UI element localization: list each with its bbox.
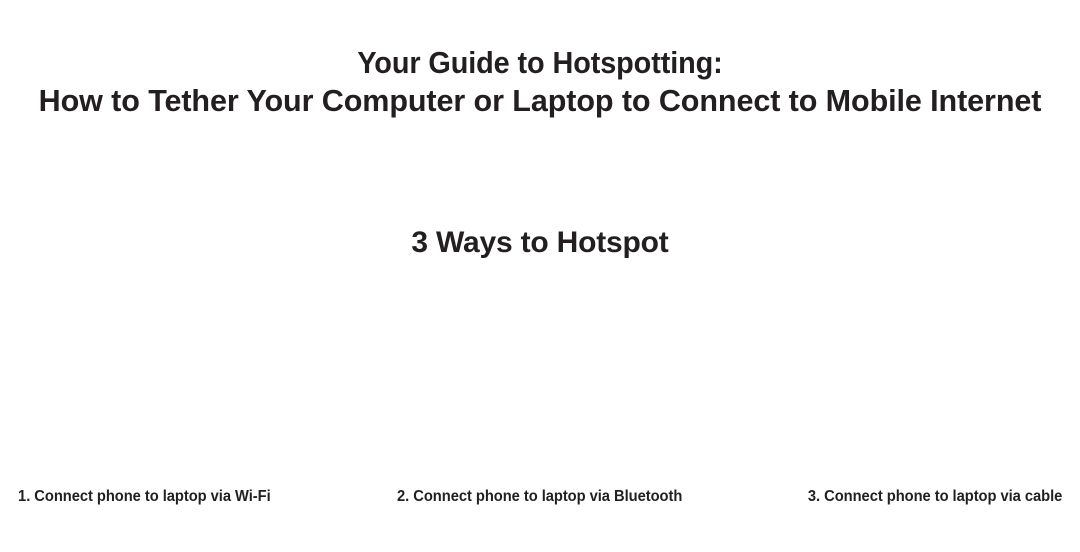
section-heading-label: 3 Ways to Hotspot [411,226,668,259]
infographic-page: Your Guide to Hotspotting: How to Tether… [0,0,1080,552]
caption-method-bluetooth: 2. Connect phone to laptop via Bluetooth [375,486,705,508]
title-line-2: How to Tether Your Computer or Laptop to… [8,82,1072,120]
illustration-slot-bluetooth [360,285,720,470]
title-line-1: Your Guide to Hotspotting: [38,44,1042,82]
illustration-row [0,285,1080,470]
illustration-slot-wifi [0,285,360,470]
illustration-slot-cable [720,285,1080,470]
page-title: Your Guide to Hotspotting: How to Tether… [0,44,1080,120]
caption-method-wifi: 1. Connect phone to laptop via Wi-Fi [0,486,348,508]
caption-method-cable: 3. Connect phone to laptop via cable [732,486,1080,508]
caption-row: 1. Connect phone to laptop via Wi-Fi 2. … [0,486,1080,512]
section-heading: 3 Ways to Hotspot [0,224,1080,262]
